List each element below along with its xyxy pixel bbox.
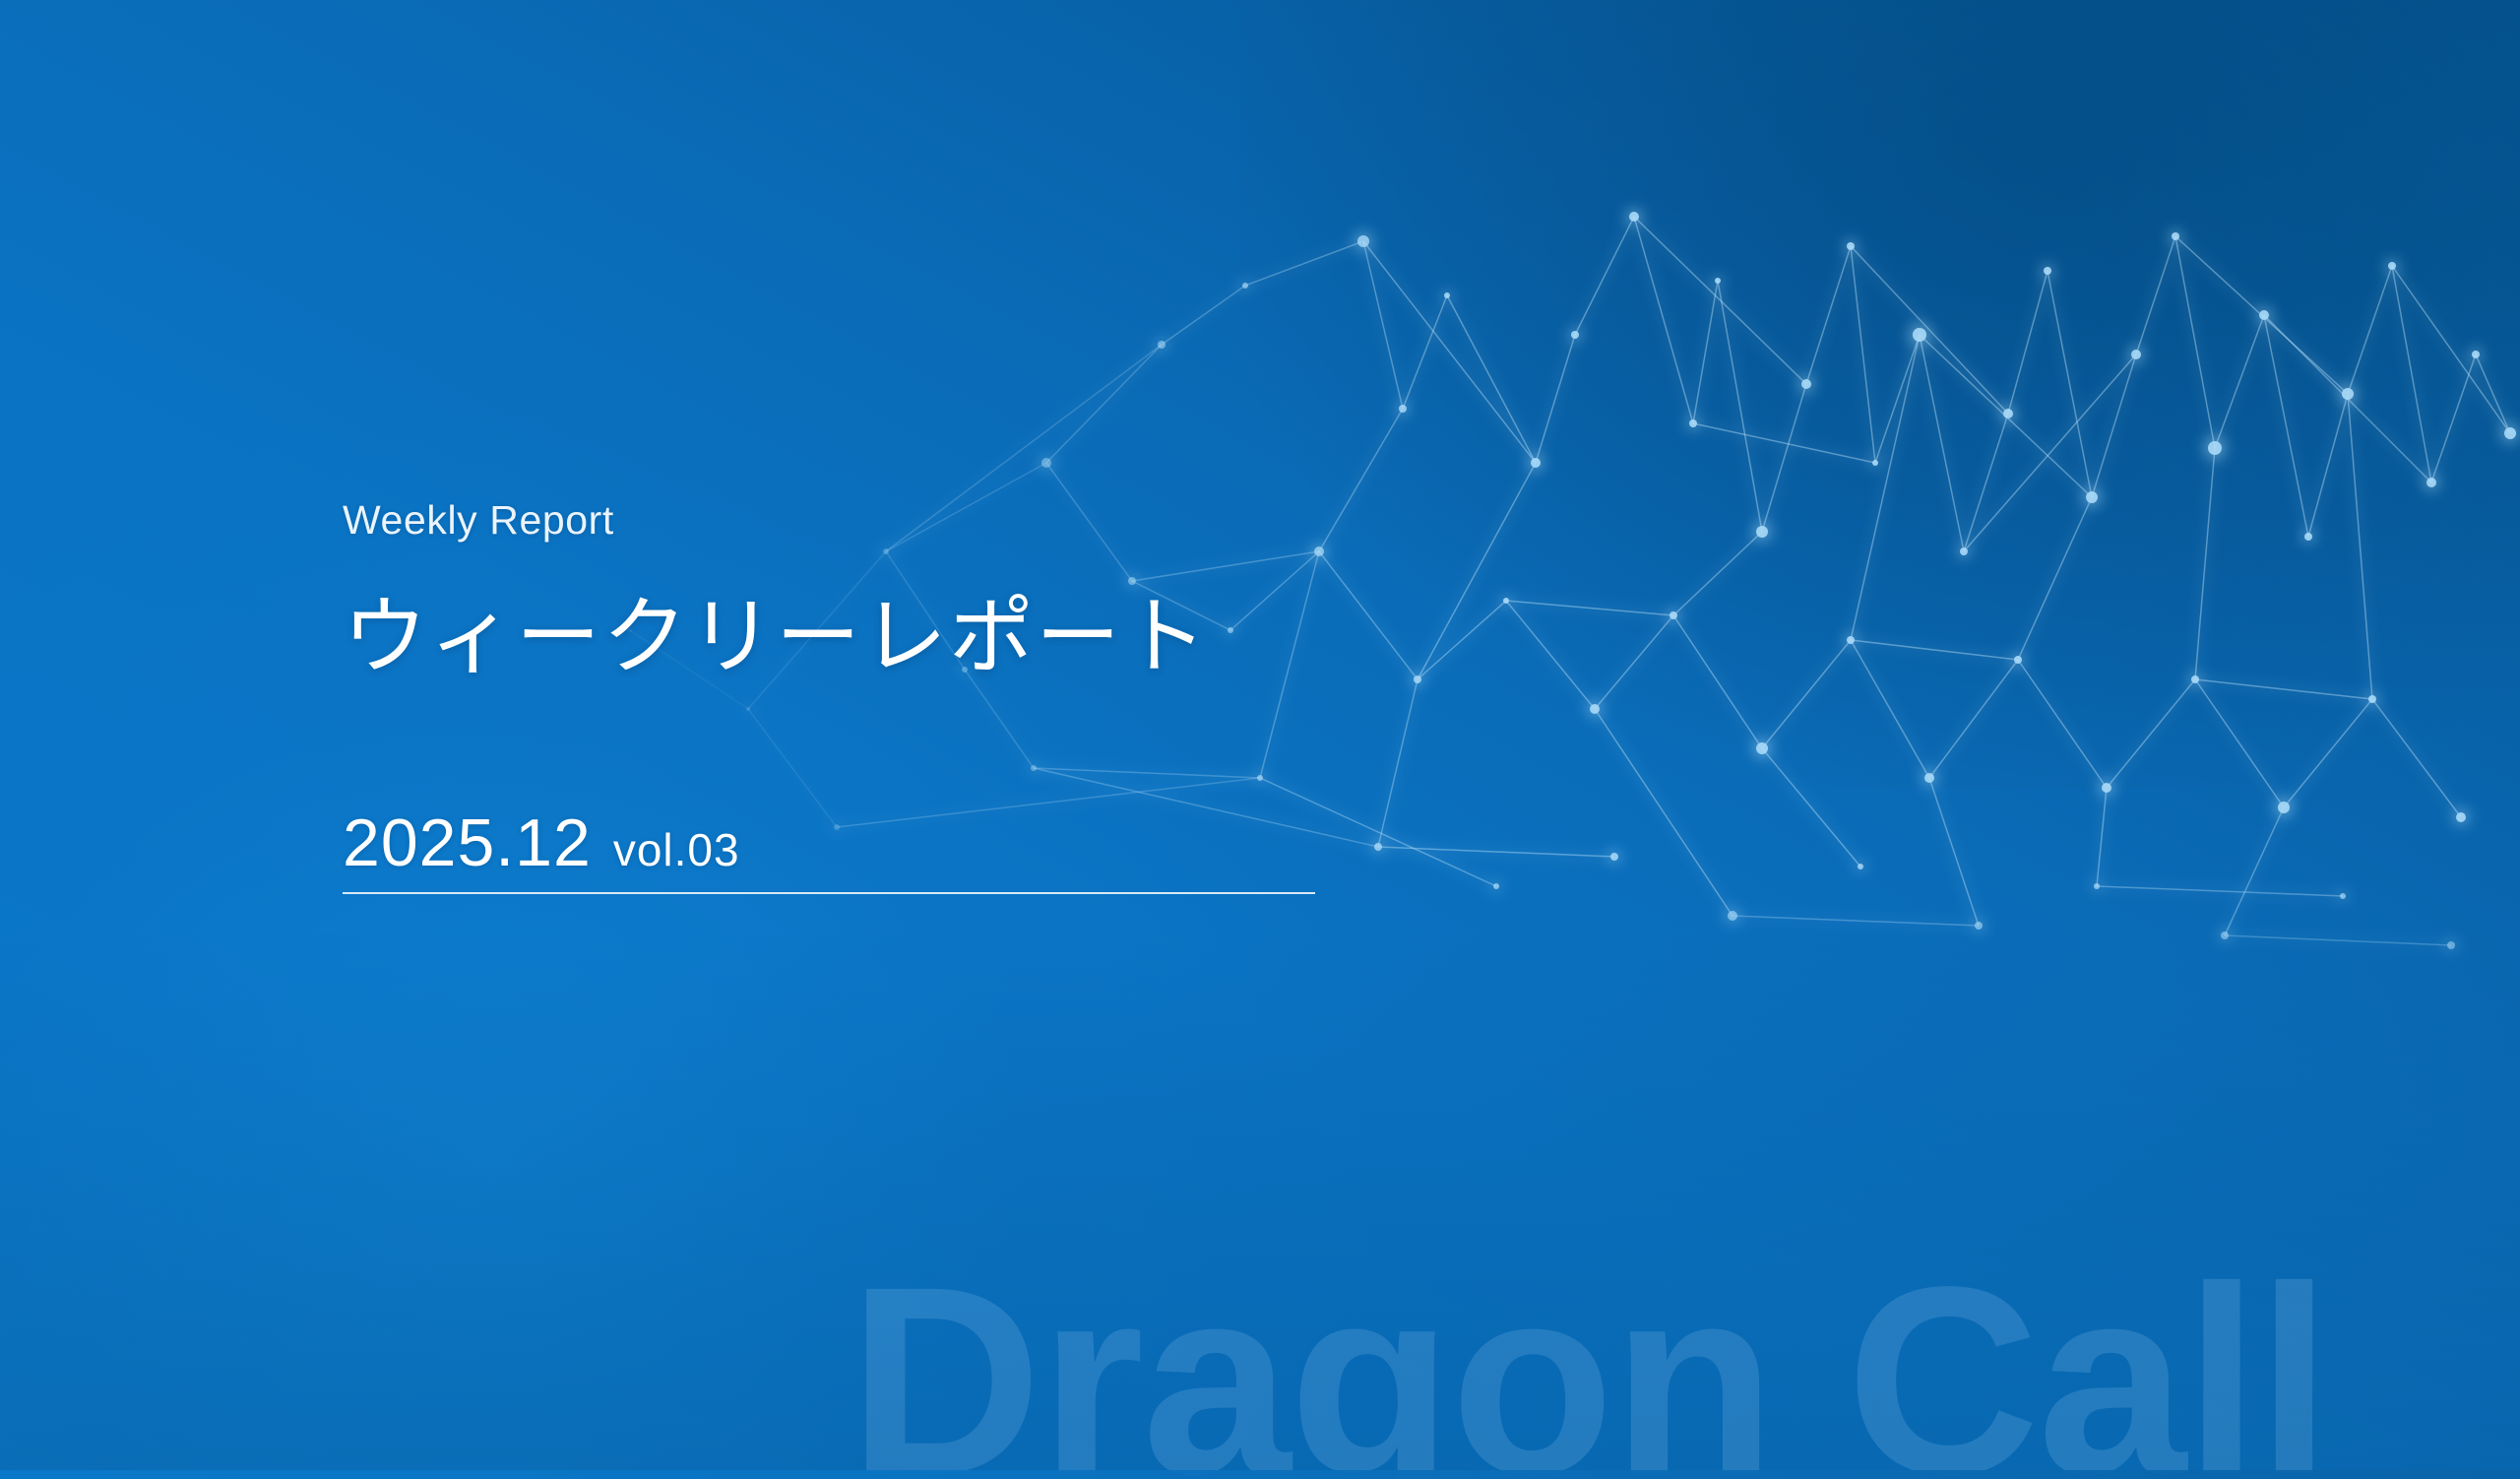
date-block: 2025.12 vol.03 (343, 809, 1315, 894)
bottom-accent-band (0, 1470, 2520, 1479)
page-title: ウィークリーレポート (343, 592, 1721, 683)
issue-date: 2025.12 (343, 809, 592, 876)
title-slide: Dragon Call Weekly Report ウィークリーレポート 202… (0, 0, 2520, 1479)
title-underline-rule (343, 892, 1315, 894)
eyebrow-label: Weekly Report (343, 500, 1721, 541)
issue-volume: vol.03 (613, 827, 740, 872)
title-content: Weekly Report ウィークリーレポート 2025.12 vol.03 (343, 500, 1721, 894)
watermark-brand: Dragon Call (849, 1247, 2329, 1479)
date-row: 2025.12 vol.03 (343, 809, 1315, 892)
